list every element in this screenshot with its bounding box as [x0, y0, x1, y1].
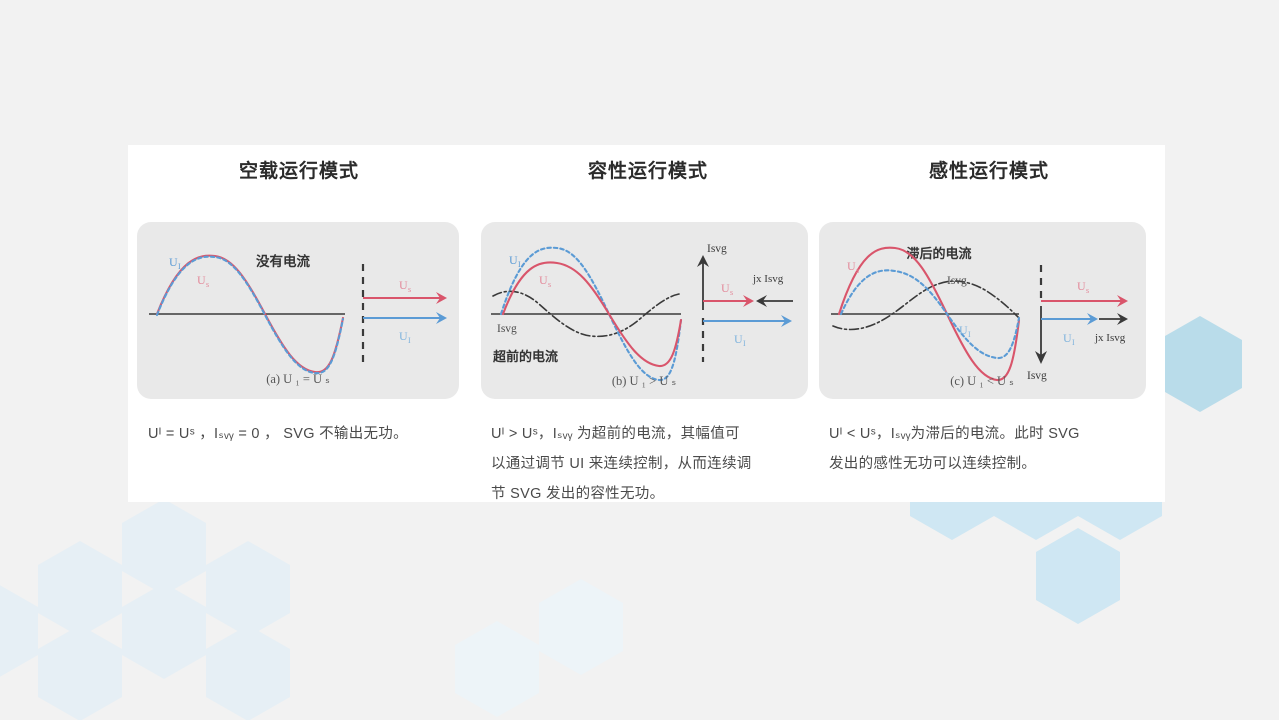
- wave-label-ui: U: [959, 323, 968, 337]
- phasor-label-jxisvg: jx Isvg: [752, 273, 784, 285]
- wave-label-ui: U: [169, 255, 178, 269]
- wave-label-us-sub: s: [856, 266, 859, 275]
- phasor-label-us: U: [1077, 279, 1086, 293]
- phasor-label-ui-sub: I: [743, 339, 746, 348]
- wave-label-ui-sub: I: [968, 330, 971, 339]
- phasor-label-us-sub: s: [730, 288, 733, 297]
- phasor-label-us: U: [721, 281, 730, 295]
- panel-title-inductive: 感性运行模式: [819, 159, 1165, 185]
- figure-note-no-load: 没有电流: [256, 253, 310, 269]
- figure-note-inductive: 滞后的电流: [906, 246, 971, 261]
- phasor-axis-label-isvg: Isvg: [707, 243, 727, 255]
- phasor-label-ui: U: [399, 329, 408, 343]
- wave-label-ui-sub: I: [518, 260, 521, 269]
- wave-label-ui: U: [509, 253, 518, 267]
- hexagon-right-edge: [1158, 316, 1242, 412]
- phasor-axis-label-isvg: Isvg: [1027, 370, 1047, 382]
- wave-label-us-sub: s: [548, 280, 551, 289]
- panel-capacitive-mode: 容性运行模式 U I U s Isvg 超前的电流: [473, 145, 819, 502]
- wave-label-us: U: [197, 273, 206, 287]
- panel-no-load-mode: 空载运行模式 没有电流 U I U s: [128, 145, 473, 502]
- content-card: 空载运行模式 没有电流 U I U s: [128, 145, 1165, 502]
- wave-label-ui-sub: I: [178, 262, 181, 271]
- caption-capacitive: Uᴵ > Uˢ，Iₛᵥᵧ 为超前的电流，其幅值可 以通过调节 UI 来连续控制，…: [491, 419, 811, 509]
- wave-ui-blue: [157, 257, 343, 374]
- figure-capacitive: U I U s Isvg 超前的电流 Isvg U s jx Isv: [481, 222, 808, 399]
- hexagon-cluster-center: [455, 579, 623, 717]
- wave-label-us-sub: s: [206, 280, 209, 289]
- phasor-label-us: U: [399, 278, 408, 292]
- figure-subcaption-b: (b) U ₁ > U ₛ: [612, 374, 677, 388]
- panel-title-no-load: 空载运行模式: [137, 159, 473, 185]
- phasor-label-us-sub: s: [408, 285, 411, 294]
- figure-subcaption-c: (c) U ₁ < U ₛ: [950, 374, 1014, 388]
- caption-no-load: Uᴵ = Uˢ ，Iₛᵥᵧ = 0 ， SVG 不输出无功。: [148, 419, 473, 449]
- phasor-label-us-sub: s: [1086, 286, 1089, 295]
- hexagon-cluster-left: [0, 499, 290, 720]
- figure-note-capacitive: 超前的电流: [493, 349, 558, 364]
- panel-inductive-mode: 感性运行模式 滞后的电流 U s Isvg U I: [819, 145, 1165, 502]
- phasor-label-jxisvg: jx Isvg: [1094, 332, 1126, 344]
- wave-label-us: U: [539, 273, 548, 287]
- wave-label-isvg: Isvg: [497, 323, 517, 335]
- panel-title-capacitive: 容性运行模式: [481, 159, 819, 185]
- phasor-label-ui-sub: I: [1072, 338, 1075, 347]
- phasor-label-ui: U: [734, 332, 743, 346]
- figure-inductive: 滞后的电流 U s Isvg U I Isvg: [819, 222, 1146, 399]
- wave-label-isvg: Isvg: [947, 275, 967, 287]
- figure-no-load: 没有电流 U I U s U s: [137, 222, 459, 399]
- caption-inductive: Uᴵ < Uˢ，Iₛᵥᵧ为滞后的电流。此时 SVG 发出的感性无功可以连续控制。: [829, 419, 1159, 479]
- wave-label-us: U: [847, 259, 856, 273]
- figure-subcaption-a: (a) U ₁ = U ₛ: [266, 372, 330, 386]
- phasor-label-ui-sub: I: [408, 336, 411, 345]
- phasor-label-ui: U: [1063, 331, 1072, 345]
